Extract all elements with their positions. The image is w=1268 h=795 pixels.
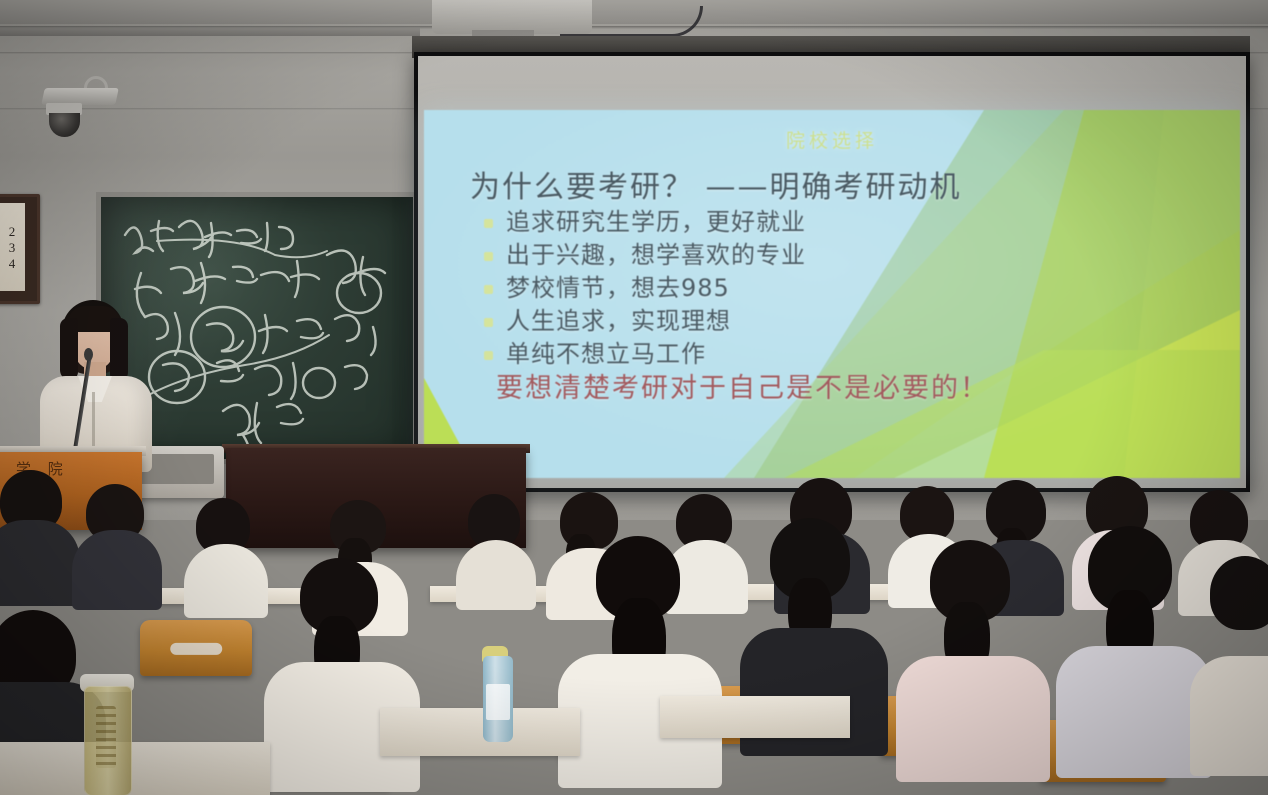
ceiling-conduit bbox=[0, 28, 420, 36]
notice-number: 2 bbox=[9, 225, 16, 238]
desk-row bbox=[380, 708, 580, 756]
framed-notice: 2 3 4 bbox=[0, 194, 40, 304]
water-bottle-label bbox=[486, 684, 510, 720]
slide-bullet-item: 人生追求，实现理想 bbox=[478, 305, 1114, 338]
audience-area bbox=[0, 470, 1268, 795]
presenter bbox=[24, 300, 174, 470]
desk-row bbox=[660, 696, 850, 738]
chair bbox=[140, 620, 252, 676]
notice-paper: 2 3 4 bbox=[0, 203, 25, 291]
notice-number: 4 bbox=[9, 257, 16, 270]
slide-bullet-item: 出于兴趣，想学喜欢的专业 bbox=[478, 239, 1114, 272]
slide-bullet-item: 追求研究生学历，更好就业 bbox=[478, 206, 1114, 239]
slide-heading: 为什么要考研？ ——明确考研动机 bbox=[470, 162, 1221, 206]
presenter-hair-side bbox=[60, 318, 78, 380]
tea-thermos-infuser bbox=[96, 706, 116, 768]
classroom-photo: 2 3 4 bbox=[0, 0, 1268, 795]
slide-emphasis-text: 要想清楚考研对于自己是不是必要的！ bbox=[496, 366, 1214, 405]
desk-row bbox=[0, 742, 270, 795]
slide-kicker-title: 院校选择 bbox=[424, 126, 1240, 153]
projector-mount bbox=[432, 0, 592, 34]
slide-bullet-list: 追求研究生学历，更好就业 出于兴趣，想学喜欢的专业 梦校情节，想去985 人生追… bbox=[478, 206, 1114, 371]
notice-number: 3 bbox=[9, 241, 16, 254]
presenter-hair-side bbox=[110, 318, 128, 382]
slide-bullet-item: 梦校情节，想去985 bbox=[478, 272, 1114, 305]
projected-slide: 院校选择 为什么要考研？ ——明确考研动机 追求研究生学历，更好就业 出于兴趣，… bbox=[424, 110, 1240, 478]
microphone-icon bbox=[84, 348, 93, 361]
